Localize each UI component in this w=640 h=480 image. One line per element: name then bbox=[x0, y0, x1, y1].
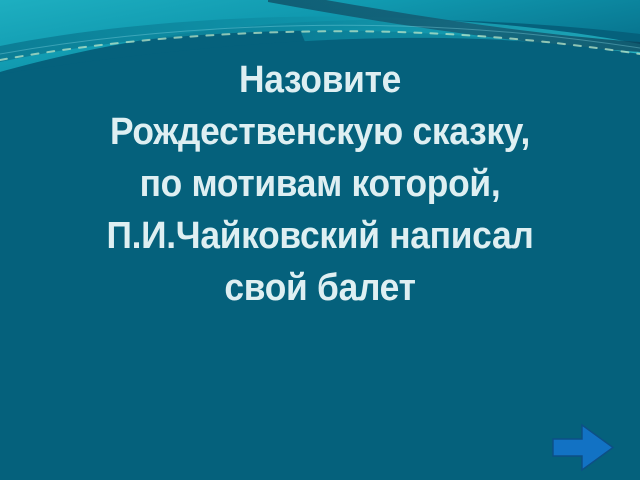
wave-stripe-dark bbox=[268, 0, 640, 52]
question-text-block: Назовите Рождественскую сказку, по мотив… bbox=[0, 54, 640, 314]
question-line-3: по мотивам которой, bbox=[22, 158, 617, 210]
question-line-4: П.И.Чайковский написал bbox=[22, 210, 617, 262]
arrow-right-icon[interactable] bbox=[551, 423, 615, 472]
arrow-right-shape[interactable] bbox=[553, 425, 613, 470]
question-line-1: Назовите bbox=[22, 54, 617, 106]
next-button[interactable] bbox=[551, 423, 615, 472]
slide-canvas: Назовите Рождественскую сказку, по мотив… bbox=[0, 0, 640, 480]
question-line-5: свой балет bbox=[22, 262, 617, 314]
question-line-2: Рождественскую сказку, bbox=[22, 106, 617, 158]
wave-highlight-thin bbox=[0, 25, 640, 54]
